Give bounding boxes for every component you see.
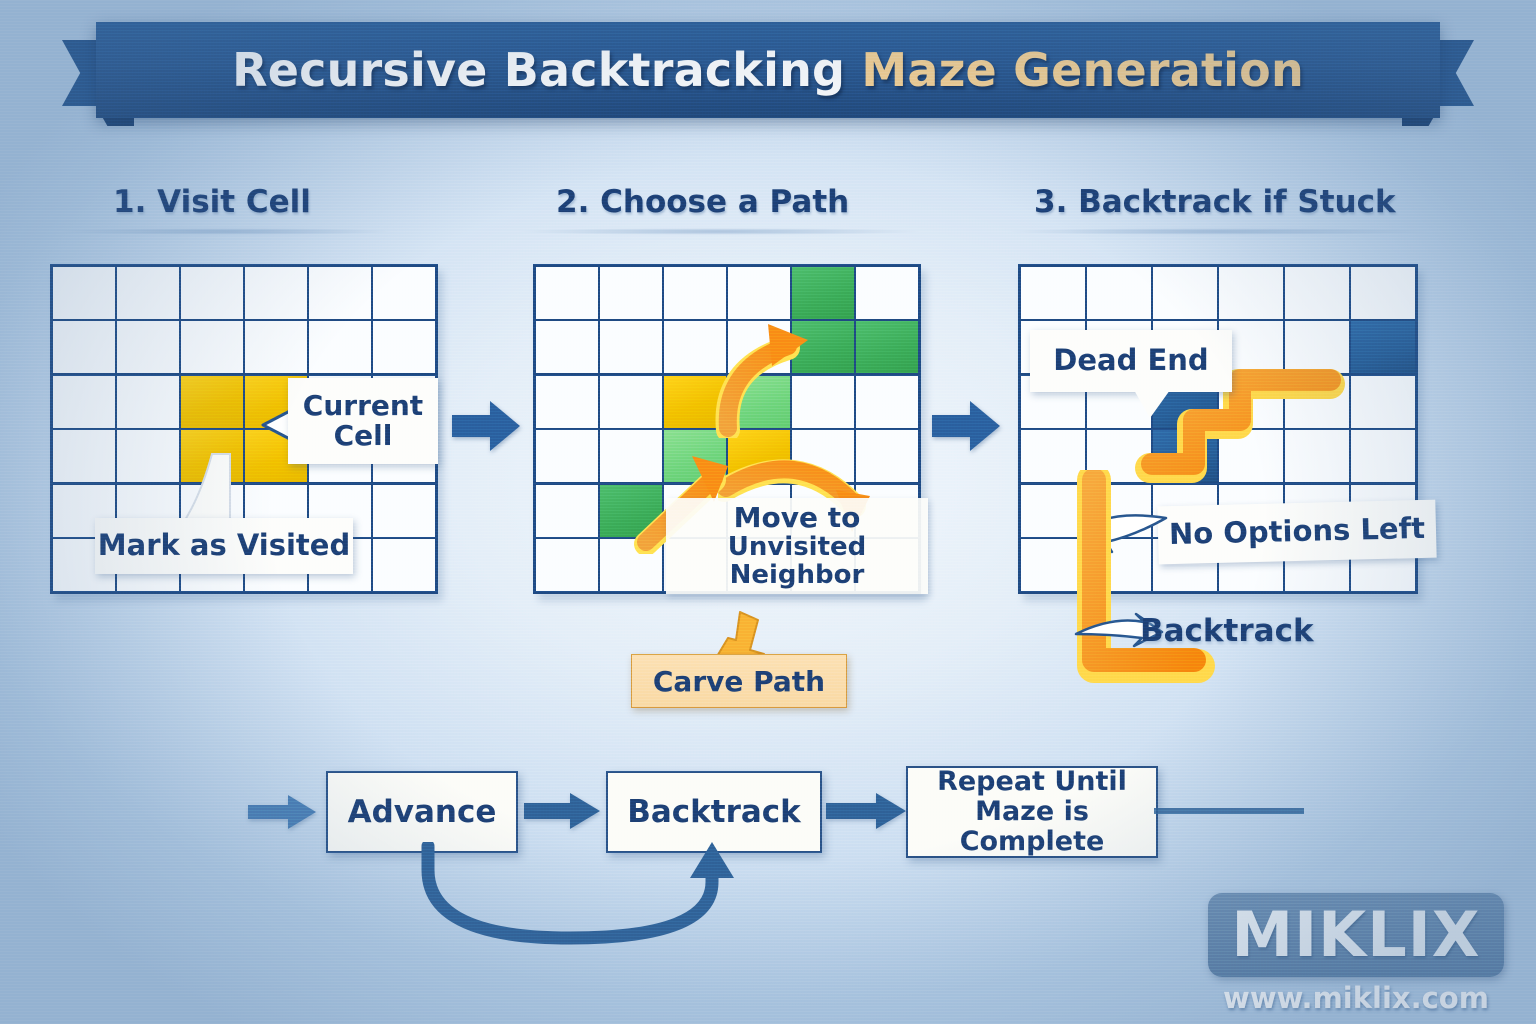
title-part-primary: Recursive Backtracking xyxy=(232,43,861,97)
mark-visited-text: Mark as Visited xyxy=(98,530,350,561)
flow-arrow-backtrack-to-repeat-icon xyxy=(826,792,906,830)
carve-path-badge: Carve Path xyxy=(631,654,847,708)
brand-logo-text: MIKLIX xyxy=(1231,904,1480,966)
maze-cell xyxy=(309,321,371,373)
maze-cell xyxy=(536,485,598,537)
panel-3-heading-rule xyxy=(1010,228,1430,235)
page-title: Recursive Backtracking Maze Generation xyxy=(96,22,1440,118)
flow-arrow-advance-to-backtrack-icon xyxy=(524,792,600,830)
maze-cell xyxy=(117,267,179,319)
maze-cell xyxy=(53,267,115,319)
backtrack-return-path-icon xyxy=(1058,470,1238,730)
panel-1-heading-rule xyxy=(60,228,390,235)
maze-cell xyxy=(53,430,115,482)
maze-cell xyxy=(373,321,435,373)
maze-cell xyxy=(373,267,435,319)
maze-cell xyxy=(117,376,179,428)
maze-cell xyxy=(792,267,854,319)
maze-cell xyxy=(600,376,662,428)
maze-cell xyxy=(373,539,435,591)
dead-end-bubble-tail-icon xyxy=(1132,390,1172,420)
maze-cell xyxy=(664,267,726,319)
maze-cell xyxy=(856,267,918,319)
flow-loop-back-curve-icon xyxy=(330,842,760,962)
maze-cell xyxy=(856,321,918,373)
ribbon-body: Recursive Backtracking Maze Generation xyxy=(96,22,1440,118)
maze-cell xyxy=(536,539,598,591)
maze-cell xyxy=(373,485,435,537)
maze-cell xyxy=(856,376,918,428)
panel-1-heading: 1. Visit Cell xyxy=(113,184,311,220)
infographic-stage: Recursive Backtracking Maze Generation 1… xyxy=(0,0,1536,1024)
maze-cell xyxy=(536,321,598,373)
flow-box-repeat[interactable]: Repeat Until Maze is Complete xyxy=(906,766,1158,858)
callout-mark-as-visited: Mark as Visited xyxy=(95,518,353,574)
panel-2-heading-rule xyxy=(520,228,920,235)
title-part-accent: Maze Generation xyxy=(861,43,1304,97)
flow-box-backtrack[interactable]: Backtrack xyxy=(606,771,822,853)
maze-cell xyxy=(181,376,243,428)
current-cell-line-2: Cell xyxy=(334,421,393,451)
callout-dead-end: Dead End xyxy=(1030,330,1232,392)
dead-end-text: Dead End xyxy=(1053,345,1208,376)
callout-move-to-unvisited-neighbor: Move to Unvisited Neighbor xyxy=(666,498,928,594)
maze-cell xyxy=(1351,267,1415,319)
panel-2-heading: 2. Choose a Path xyxy=(556,184,849,220)
maze-cell xyxy=(1021,267,1085,319)
maze-cell xyxy=(181,321,243,373)
flow-box-advance[interactable]: Advance xyxy=(326,771,518,853)
maze-cell xyxy=(53,376,115,428)
carve-path-text: Carve Path xyxy=(653,665,825,698)
brand-url: www.miklix.com xyxy=(1208,981,1504,1015)
maze-cell xyxy=(600,267,662,319)
move-line-2: Unvisited Neighbor xyxy=(666,533,928,589)
flow-box-backtrack-label: Backtrack xyxy=(627,795,801,830)
maze-cell xyxy=(728,267,790,319)
flow-arrow-panel-2-to-3-icon xyxy=(932,398,1000,454)
flow-tail-line xyxy=(1154,808,1304,814)
flow-box-advance-label: Advance xyxy=(348,795,497,830)
maze-cell xyxy=(245,267,307,319)
maze-cell xyxy=(1285,267,1349,319)
maze-cell xyxy=(117,321,179,373)
callout-current-cell: Current Cell xyxy=(288,378,438,464)
label-backtrack-panel-3: Backtrack xyxy=(1140,613,1314,649)
maze-cell xyxy=(1153,267,1217,319)
maze-cell xyxy=(536,430,598,482)
maze-cell xyxy=(536,267,598,319)
brand-logo: MIKLIX xyxy=(1208,893,1504,977)
maze-cell xyxy=(181,267,243,319)
maze-cell xyxy=(536,376,598,428)
maze-cell xyxy=(309,267,371,319)
maze-cell xyxy=(1087,267,1151,319)
move-line-1: Move to xyxy=(734,503,861,533)
current-cell-line-1: Current xyxy=(303,391,423,421)
maze-cell xyxy=(600,321,662,373)
carve-arrow-up-right-icon xyxy=(706,318,826,438)
flow-box-repeat-line-2: Maze is Complete xyxy=(908,797,1156,857)
flow-entry-arrow-icon xyxy=(248,793,316,831)
maze-cell xyxy=(1219,267,1283,319)
panel-3-heading: 3. Backtrack if Stuck xyxy=(1034,184,1396,220)
title-ribbon: Recursive Backtracking Maze Generation xyxy=(0,12,1536,122)
flow-arrow-panel-1-to-2-icon xyxy=(452,398,520,454)
maze-cell xyxy=(245,321,307,373)
flow-box-repeat-line-1: Repeat Until xyxy=(937,767,1127,797)
maze-cell xyxy=(53,321,115,373)
